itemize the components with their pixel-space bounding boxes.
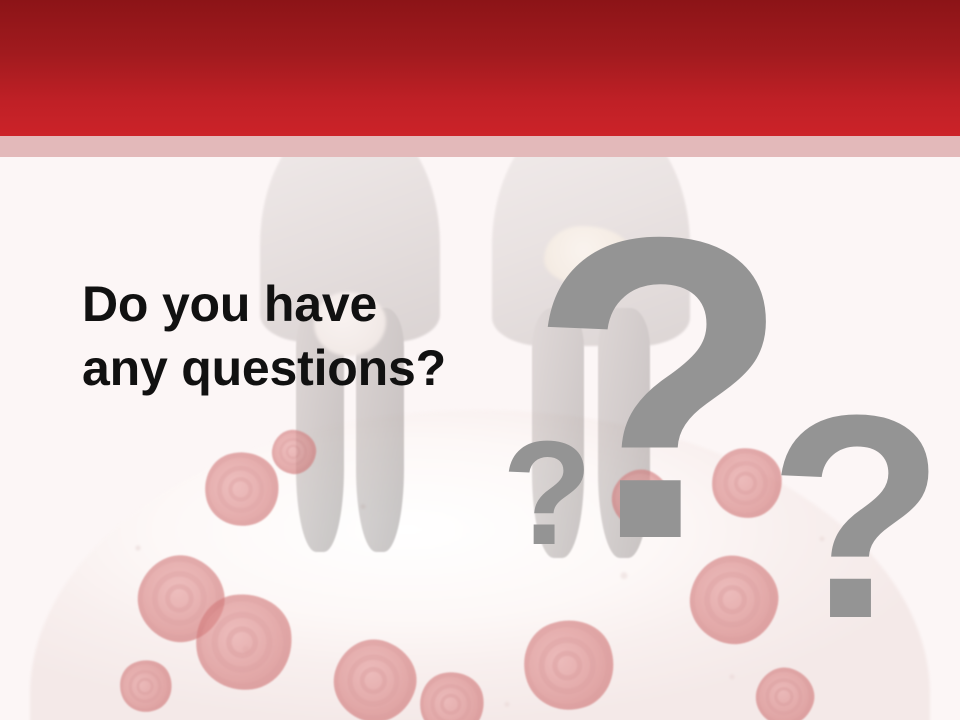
header-accent-stripe	[0, 136, 960, 157]
title-line-2: any questions?	[82, 336, 542, 400]
question-mark-icon-medium: ?	[768, 372, 945, 662]
slide-title: Do you have any questions?	[82, 272, 542, 400]
question-mark-icon-small: ?	[502, 420, 592, 568]
header-band	[0, 0, 960, 136]
title-line-1: Do you have	[82, 272, 542, 336]
slide-canvas: ? ? ? Do you have any questions?	[0, 0, 960, 720]
